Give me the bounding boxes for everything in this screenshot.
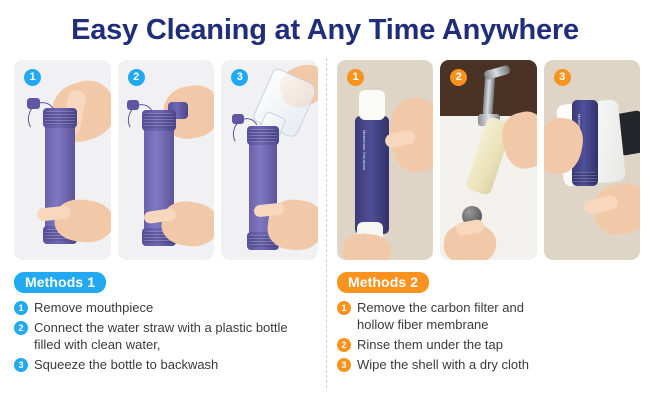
step-text: Remove mouthpiece bbox=[34, 299, 318, 316]
photo-m2-step1[interactable]: Membrane Solutions 1 bbox=[337, 60, 433, 260]
photo-m2-step2[interactable]: 2 bbox=[440, 60, 536, 260]
list-item: 2 Rinse them under the tap bbox=[337, 336, 640, 353]
step-text: Connect the water straw with a plastic b… bbox=[34, 319, 318, 353]
photo-badge: 3 bbox=[554, 69, 571, 86]
scene-attach-bottle bbox=[221, 60, 318, 260]
cap-ribs bbox=[573, 172, 597, 184]
step-text: Rinse them under the tap bbox=[357, 336, 640, 353]
photo-m1-step1[interactable]: 1 bbox=[14, 60, 111, 260]
scene-rinse-under-tap bbox=[440, 60, 536, 260]
step-text: Remove the carbon filter and hollow fibe… bbox=[357, 299, 640, 333]
step-text-line1: Remove the carbon filter and bbox=[357, 300, 524, 315]
photo-badge: 2 bbox=[128, 69, 145, 86]
white-cap bbox=[359, 90, 385, 120]
filter-body bbox=[355, 116, 389, 234]
product-print: Membrane Solutions bbox=[362, 130, 367, 170]
photo-m1-step3[interactable]: 3 bbox=[221, 60, 318, 260]
scene-remove-mouthpiece bbox=[14, 60, 111, 260]
list-item: 1 Remove mouthpiece bbox=[14, 299, 318, 316]
scene-remove-carbon-filter: Membrane Solutions bbox=[337, 60, 433, 260]
methods-1-step-list: 1 Remove mouthpiece 2 Connect the water … bbox=[14, 299, 318, 373]
methods-2-step-list: 1 Remove the carbon filter and hollow fi… bbox=[337, 299, 640, 373]
step-text-line1: Connect the water straw with a plastic b… bbox=[34, 320, 288, 335]
scene-wipe-with-cloth: Membrane Solutions bbox=[544, 60, 640, 260]
step-number: 3 bbox=[14, 358, 28, 372]
step-text: Wipe the shell with a dry cloth bbox=[357, 356, 640, 373]
photo-badge: 1 bbox=[24, 69, 41, 86]
page-title: Easy Cleaning at Any Time Anywhere bbox=[0, 14, 650, 47]
hand-lower bbox=[341, 232, 392, 260]
step-number: 1 bbox=[337, 301, 351, 315]
step-number: 2 bbox=[337, 338, 351, 352]
step-number: 3 bbox=[337, 358, 351, 372]
methods-2-heading: Methods 2 bbox=[337, 272, 429, 293]
list-item: 2 Connect the water straw with a plastic… bbox=[14, 319, 318, 353]
photo-badge: 1 bbox=[347, 69, 364, 86]
photo-m1-step2[interactable]: 2 bbox=[118, 60, 215, 260]
methods-1-photo-row: 1 2 bbox=[14, 60, 318, 260]
photo-m2-step3[interactable]: Membrane Solutions 3 bbox=[544, 60, 640, 260]
step-text-line2: hollow fiber membrane bbox=[357, 316, 640, 333]
methods-1-heading: Methods 1 bbox=[14, 272, 106, 293]
step-number: 1 bbox=[14, 301, 28, 315]
step-text-line2: filled with clean water, bbox=[34, 336, 318, 353]
list-item: 1 Remove the carbon filter and hollow fi… bbox=[337, 299, 640, 333]
scene-detach-cap bbox=[118, 60, 215, 260]
methods-1-section: 1 2 bbox=[14, 60, 318, 376]
methods-2-photo-row: Membrane Solutions 1 bbox=[337, 60, 640, 260]
section-divider bbox=[326, 58, 327, 388]
step-text: Squeeze the bottle to backwash bbox=[34, 356, 318, 373]
step-number: 2 bbox=[14, 321, 28, 335]
list-item: 3 Squeeze the bottle to backwash bbox=[14, 356, 318, 373]
list-item: 3 Wipe the shell with a dry cloth bbox=[337, 356, 640, 373]
methods-2-section: Membrane Solutions 1 bbox=[337, 60, 640, 376]
